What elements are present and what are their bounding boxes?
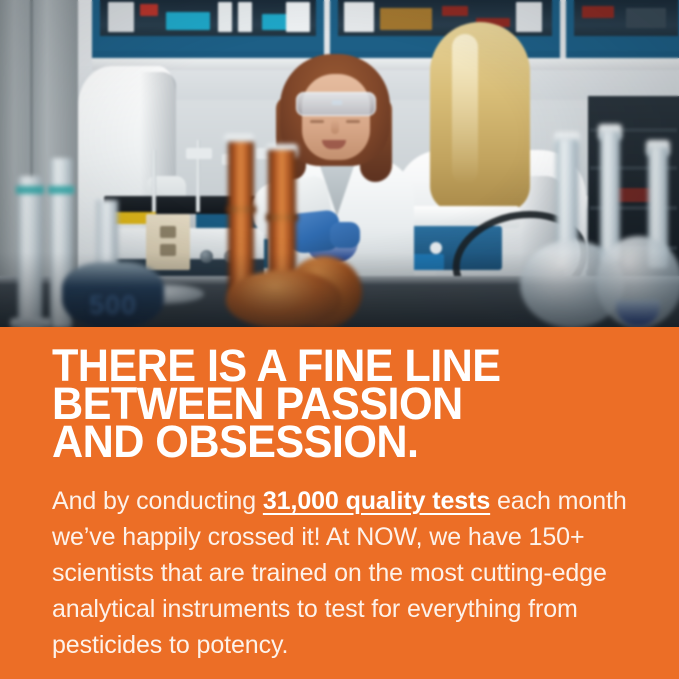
laboratory-photo: 500 [0, 0, 679, 327]
cabinet-glass-right [574, 0, 678, 36]
cabinet-underside [92, 58, 679, 70]
body-copy: And by conducting 31,000 quality tests e… [52, 483, 632, 663]
shelf-box-red [140, 4, 158, 16]
highlight-quality-tests: 31,000 quality tests [263, 487, 490, 515]
outlet-socket [160, 226, 176, 238]
shelf-red-item [442, 6, 468, 16]
shelf-tray-cyan [166, 12, 210, 30]
shelf-cardboard-box [380, 8, 432, 30]
tray-button [430, 242, 442, 254]
amber-flask-neck [228, 142, 254, 294]
cylinder-base [10, 318, 52, 327]
blue-nitrile-glove-fingers [330, 222, 360, 248]
flask-volume-label: 500 [62, 288, 164, 322]
hair-highlight [452, 34, 478, 184]
cylinder-band [16, 186, 44, 194]
headline-line-3: AND OBSESSION. [52, 423, 628, 461]
shelf-bottle [108, 2, 134, 32]
shelf-red-item-3 [582, 6, 614, 18]
rod-clamp [186, 148, 212, 159]
cylinder-band [48, 186, 74, 194]
scientist-blonde-hair [430, 22, 530, 212]
shelf-bottle-c1 [344, 2, 374, 32]
cabinet-glass-center [338, 0, 552, 36]
wall-outlet-plate [146, 214, 190, 270]
support-rod [152, 150, 156, 212]
shelf-bottle-c2 [516, 2, 542, 32]
headline: THERE IS A FINE LINE BETWEEN PASSION AND… [52, 347, 628, 461]
orange-message-panel: THERE IS A FINE LINE BETWEEN PASSION AND… [0, 327, 679, 679]
body-text-before: And by conducting [52, 487, 263, 515]
amber-flask-ring [266, 214, 298, 221]
eyebrow [310, 120, 324, 123]
amber-flask-ring [226, 206, 256, 213]
instrument-knob [200, 250, 213, 263]
shelf-jar [286, 2, 310, 32]
shelf-bottle-tall [218, 2, 232, 32]
graduated-cylinder [18, 176, 42, 327]
shelf-dark-item [626, 8, 666, 28]
goggles-bridge [332, 100, 342, 105]
promo-card: 500 THERE IS A FINE LINE BETWEEN PASSION… [0, 0, 679, 679]
outlet-socket [160, 244, 176, 256]
volumetric-flask-neck [96, 200, 118, 270]
cabinet-glass-left [100, 0, 316, 36]
shelf-bottle-tall-2 [238, 2, 252, 32]
amber-flask-bulb [226, 270, 342, 327]
eyebrow [346, 120, 360, 123]
nose [331, 120, 339, 134]
